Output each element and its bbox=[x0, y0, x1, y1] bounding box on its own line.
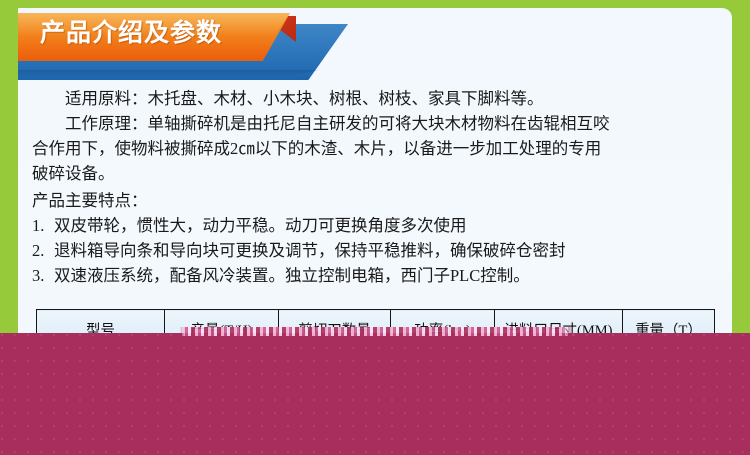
list-item-label: 退料箱导向条和导向块可更换及调节，保持平稳推料，确保破碎仓密封 bbox=[54, 241, 566, 260]
list-item-number: 3. bbox=[32, 263, 44, 288]
list-item: 1. 双皮带轮，惯性大，动力平稳。动刀可更换角度多次使用 bbox=[32, 213, 732, 238]
section-banner: 产品介绍及参数 bbox=[18, 8, 438, 80]
frame-border-top bbox=[0, 0, 750, 8]
list-item-number: 2. bbox=[32, 238, 44, 263]
list-item-number: 1. bbox=[32, 213, 44, 238]
magenta-overlay-block bbox=[0, 333, 750, 455]
list-item-label: 双皮带轮，惯性大，动力平稳。动刀可更换角度多次使用 bbox=[54, 216, 467, 235]
product-detail-page: 产品介绍及参数 适用原料：木托盘、木材、小木块、树根、树枝、家具下脚料等。 工作… bbox=[0, 0, 750, 455]
list-item: 3. 双速液压系统，配备风冷装置。独立控制电箱，西门子PLC控制。 bbox=[32, 263, 732, 288]
list-item: 2. 退料箱导向条和导向块可更换及调节，保持平稳推料，确保破碎仓密封 bbox=[32, 238, 732, 263]
features-heading: 产品主要特点： bbox=[32, 188, 732, 213]
description-paragraph-principle-line1: 工作原理：单轴撕碎机是由托尼自主研发的可将大块木材物料在齿辊相互咬 bbox=[32, 111, 732, 136]
banner-blue-ribbon-shadow bbox=[18, 70, 318, 76]
description-paragraph-principle-line3: 破碎设备。 bbox=[32, 161, 732, 186]
overlay-glitch-band bbox=[0, 327, 750, 336]
description-paragraph-material: 适用原料：木托盘、木材、小木块、树根、树枝、家具下脚料等。 bbox=[32, 86, 732, 111]
features-list: 1. 双皮带轮，惯性大，动力平稳。动刀可更换角度多次使用 2. 退料箱导向条和导… bbox=[32, 213, 732, 288]
list-item-label: 双速液压系统，配备风冷装置。独立控制电箱，西门子PLC控制。 bbox=[54, 266, 530, 285]
description-paragraph-principle-line2: 合作用下，使物料被撕碎成2㎝以下的木渣、木片，以备进一步加工处理的专用 bbox=[32, 136, 732, 161]
product-description: 适用原料：木托盘、木材、小木块、树根、树枝、家具下脚料等。 工作原理：单轴撕碎机… bbox=[32, 86, 732, 288]
section-title: 产品介绍及参数 bbox=[40, 17, 222, 49]
